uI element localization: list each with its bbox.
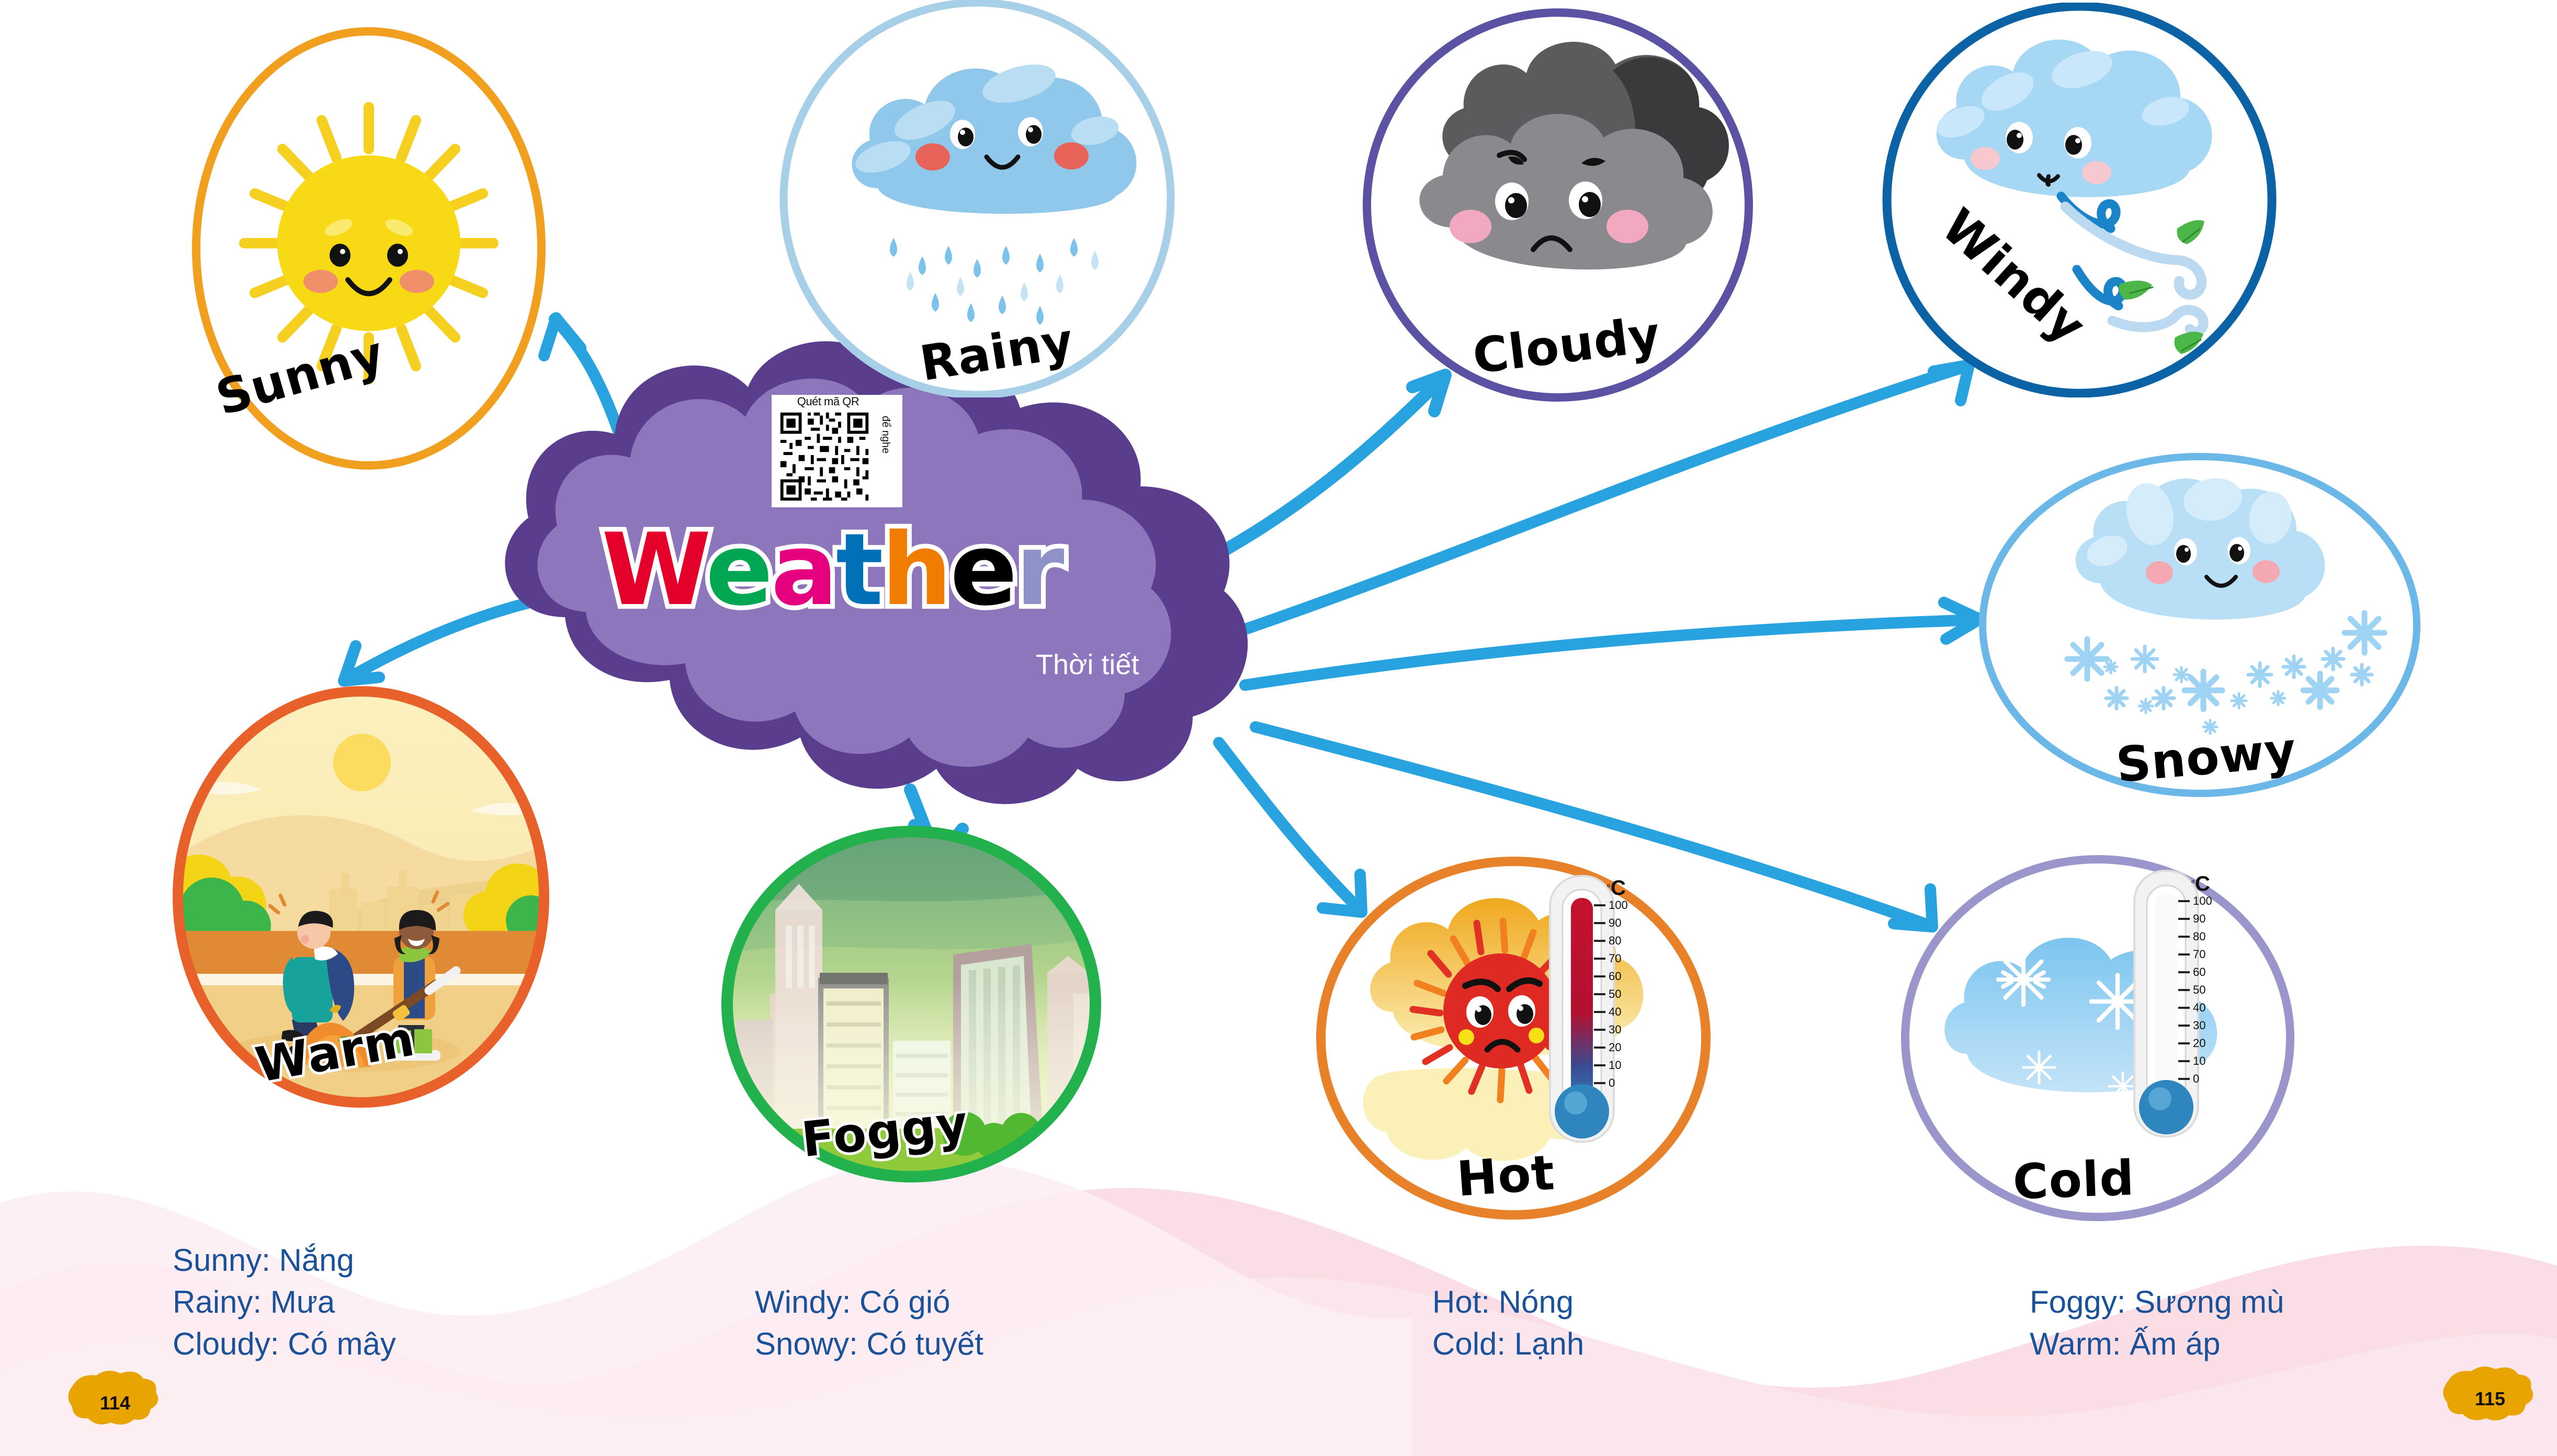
- weather-mindmap-page: Weather Weather Thời tiết Quét mã QR: [0, 0, 2557, 1456]
- page-number-right: 115: [2448, 1381, 2532, 1417]
- page-number-left: 114: [73, 1385, 157, 1421]
- page-badges: [0, 0, 2557, 1456]
